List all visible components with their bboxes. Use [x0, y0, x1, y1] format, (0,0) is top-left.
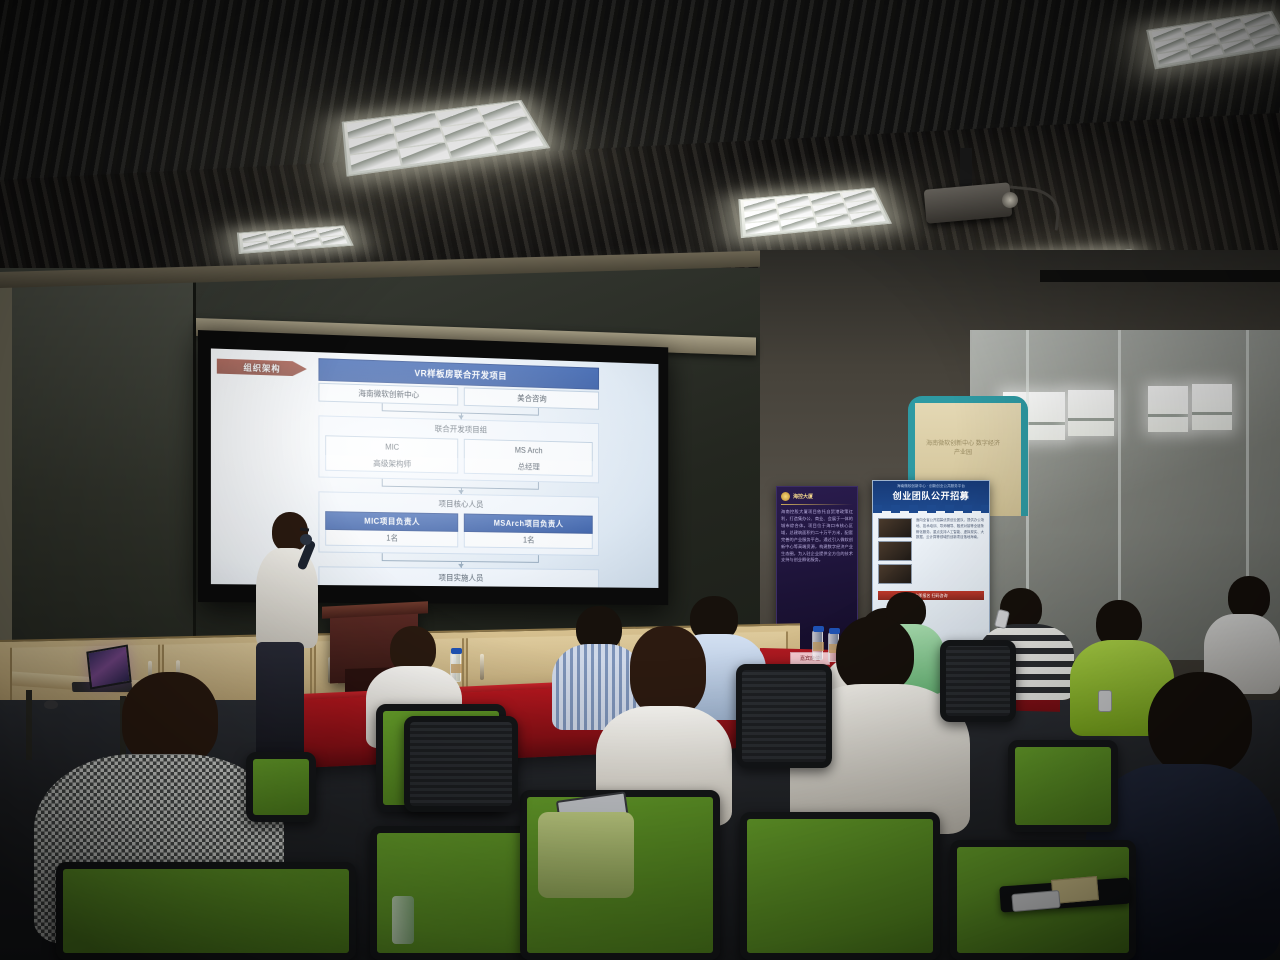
microphone-head: [300, 534, 312, 545]
table-leg: [26, 690, 32, 760]
poster-photo: [878, 518, 912, 538]
poster-subtitle: 海南微软创新中心 · 创新创业公共服务平台: [873, 481, 989, 489]
poster-logo-icon: [781, 492, 790, 501]
poster-body-text: 面向全省公开招募优秀创业团队，提供办公场地、技术培训、导师辅导、融资对接等全链条…: [916, 518, 984, 584]
person-head: [122, 672, 218, 766]
water-bottle-icon[interactable]: [392, 896, 414, 944]
slide-section-tag: 组织架构: [217, 359, 307, 377]
smartphone-icon[interactable]: [1098, 690, 1112, 712]
poster-content: 面向全省公开招募优秀创业团队，提供办公场地、技术培训、导师辅导、融资对接等全链条…: [873, 513, 989, 589]
cabinet-handle[interactable]: [480, 654, 484, 680]
conference-room-photo: 海南微软创新中心 数字经济产业园 组织架构 VR样板房联合开发项目 海南微软创新…: [0, 0, 1280, 960]
backpack: [538, 812, 634, 898]
org-core-label: MIC项目负责人: [325, 511, 458, 532]
laptop-screen[interactable]: [86, 644, 131, 689]
speaker-legs: [256, 642, 304, 770]
org-core-count: 1名: [325, 530, 458, 548]
poster-divider: [781, 504, 853, 505]
org-impl-members: UE/Unity工程师 2名 VR软件工程师 2名 建筑设计师 2名: [325, 586, 593, 588]
poster-title: 创业团队公开招募: [873, 489, 989, 505]
org-core-count: 1名: [464, 532, 593, 549]
window: [1192, 384, 1232, 430]
org-impl-member: UE/Unity工程师 2名: [325, 586, 412, 588]
org-group-member: MS Arch 总经理: [464, 439, 593, 477]
org-core-member: MIC项目负责人 1名: [325, 511, 458, 547]
poster-image-column: [878, 518, 912, 584]
ceiling-beam-right: [1040, 270, 1280, 282]
org-core-member: MSArch项目负责人 1名: [464, 514, 593, 550]
org-chart: VR样板房联合开发项目 海南微软创新中心 美合咨询 联合开发项目组 MIC: [318, 358, 599, 588]
poster-photo: [878, 541, 912, 561]
org-group-box: 联合开发项目组 MIC 高级架构师 MS Arch 总经理: [318, 415, 599, 483]
person-head: [630, 626, 706, 716]
poster-logo: 海控大厦: [781, 492, 853, 501]
org-core-box: 项目核心人员 MIC项目负责人 1名 MSArch项目负责人 1名: [318, 491, 599, 556]
person-head: [1148, 672, 1252, 776]
poster-brand: 海控大厦: [793, 493, 813, 500]
org-impl-box: 项目实施人员 UE/Unity工程师 2名 VR软件工程师 2名: [318, 566, 599, 588]
window: [1148, 386, 1188, 432]
water-bottle-icon[interactable]: [812, 630, 823, 660]
org-member-role: 高级架构师: [325, 455, 458, 474]
speaker-head: [272, 512, 308, 552]
org-impl-label: VR软件工程师: [418, 587, 503, 588]
org-core-label: MSArch项目负责人: [464, 514, 593, 534]
poster-body-text: 海南控股大厦项目依托自贸港政策红利，打造集办公、商业、会展于一体的城市综合体。项…: [781, 509, 853, 564]
speaker-torso: [256, 548, 318, 648]
wall-sign-text: 海南微软创新中心 数字经济产业园: [926, 440, 1000, 458]
org-core-title: 项目核心人员: [325, 496, 593, 512]
mouse-icon[interactable]: [44, 700, 58, 709]
poster-zigzag-divider: [873, 505, 989, 513]
org-member-role: 总经理: [464, 458, 593, 476]
org-impl-member: VR软件工程师 2名: [418, 587, 503, 588]
org-core-members: MIC项目负责人 1名 MSArch项目负责人 1名: [325, 511, 593, 549]
org-impl-title: 项目实施人员: [325, 571, 593, 584]
poster-photo: [878, 564, 912, 584]
window: [1068, 390, 1114, 436]
org-group-members: MIC 高级架构师 MS Arch 总经理: [325, 435, 593, 476]
org-impl-label: UE/Unity工程师: [325, 586, 412, 588]
person-head: [836, 616, 914, 694]
org-group-member: MIC 高级架构师: [325, 435, 458, 473]
